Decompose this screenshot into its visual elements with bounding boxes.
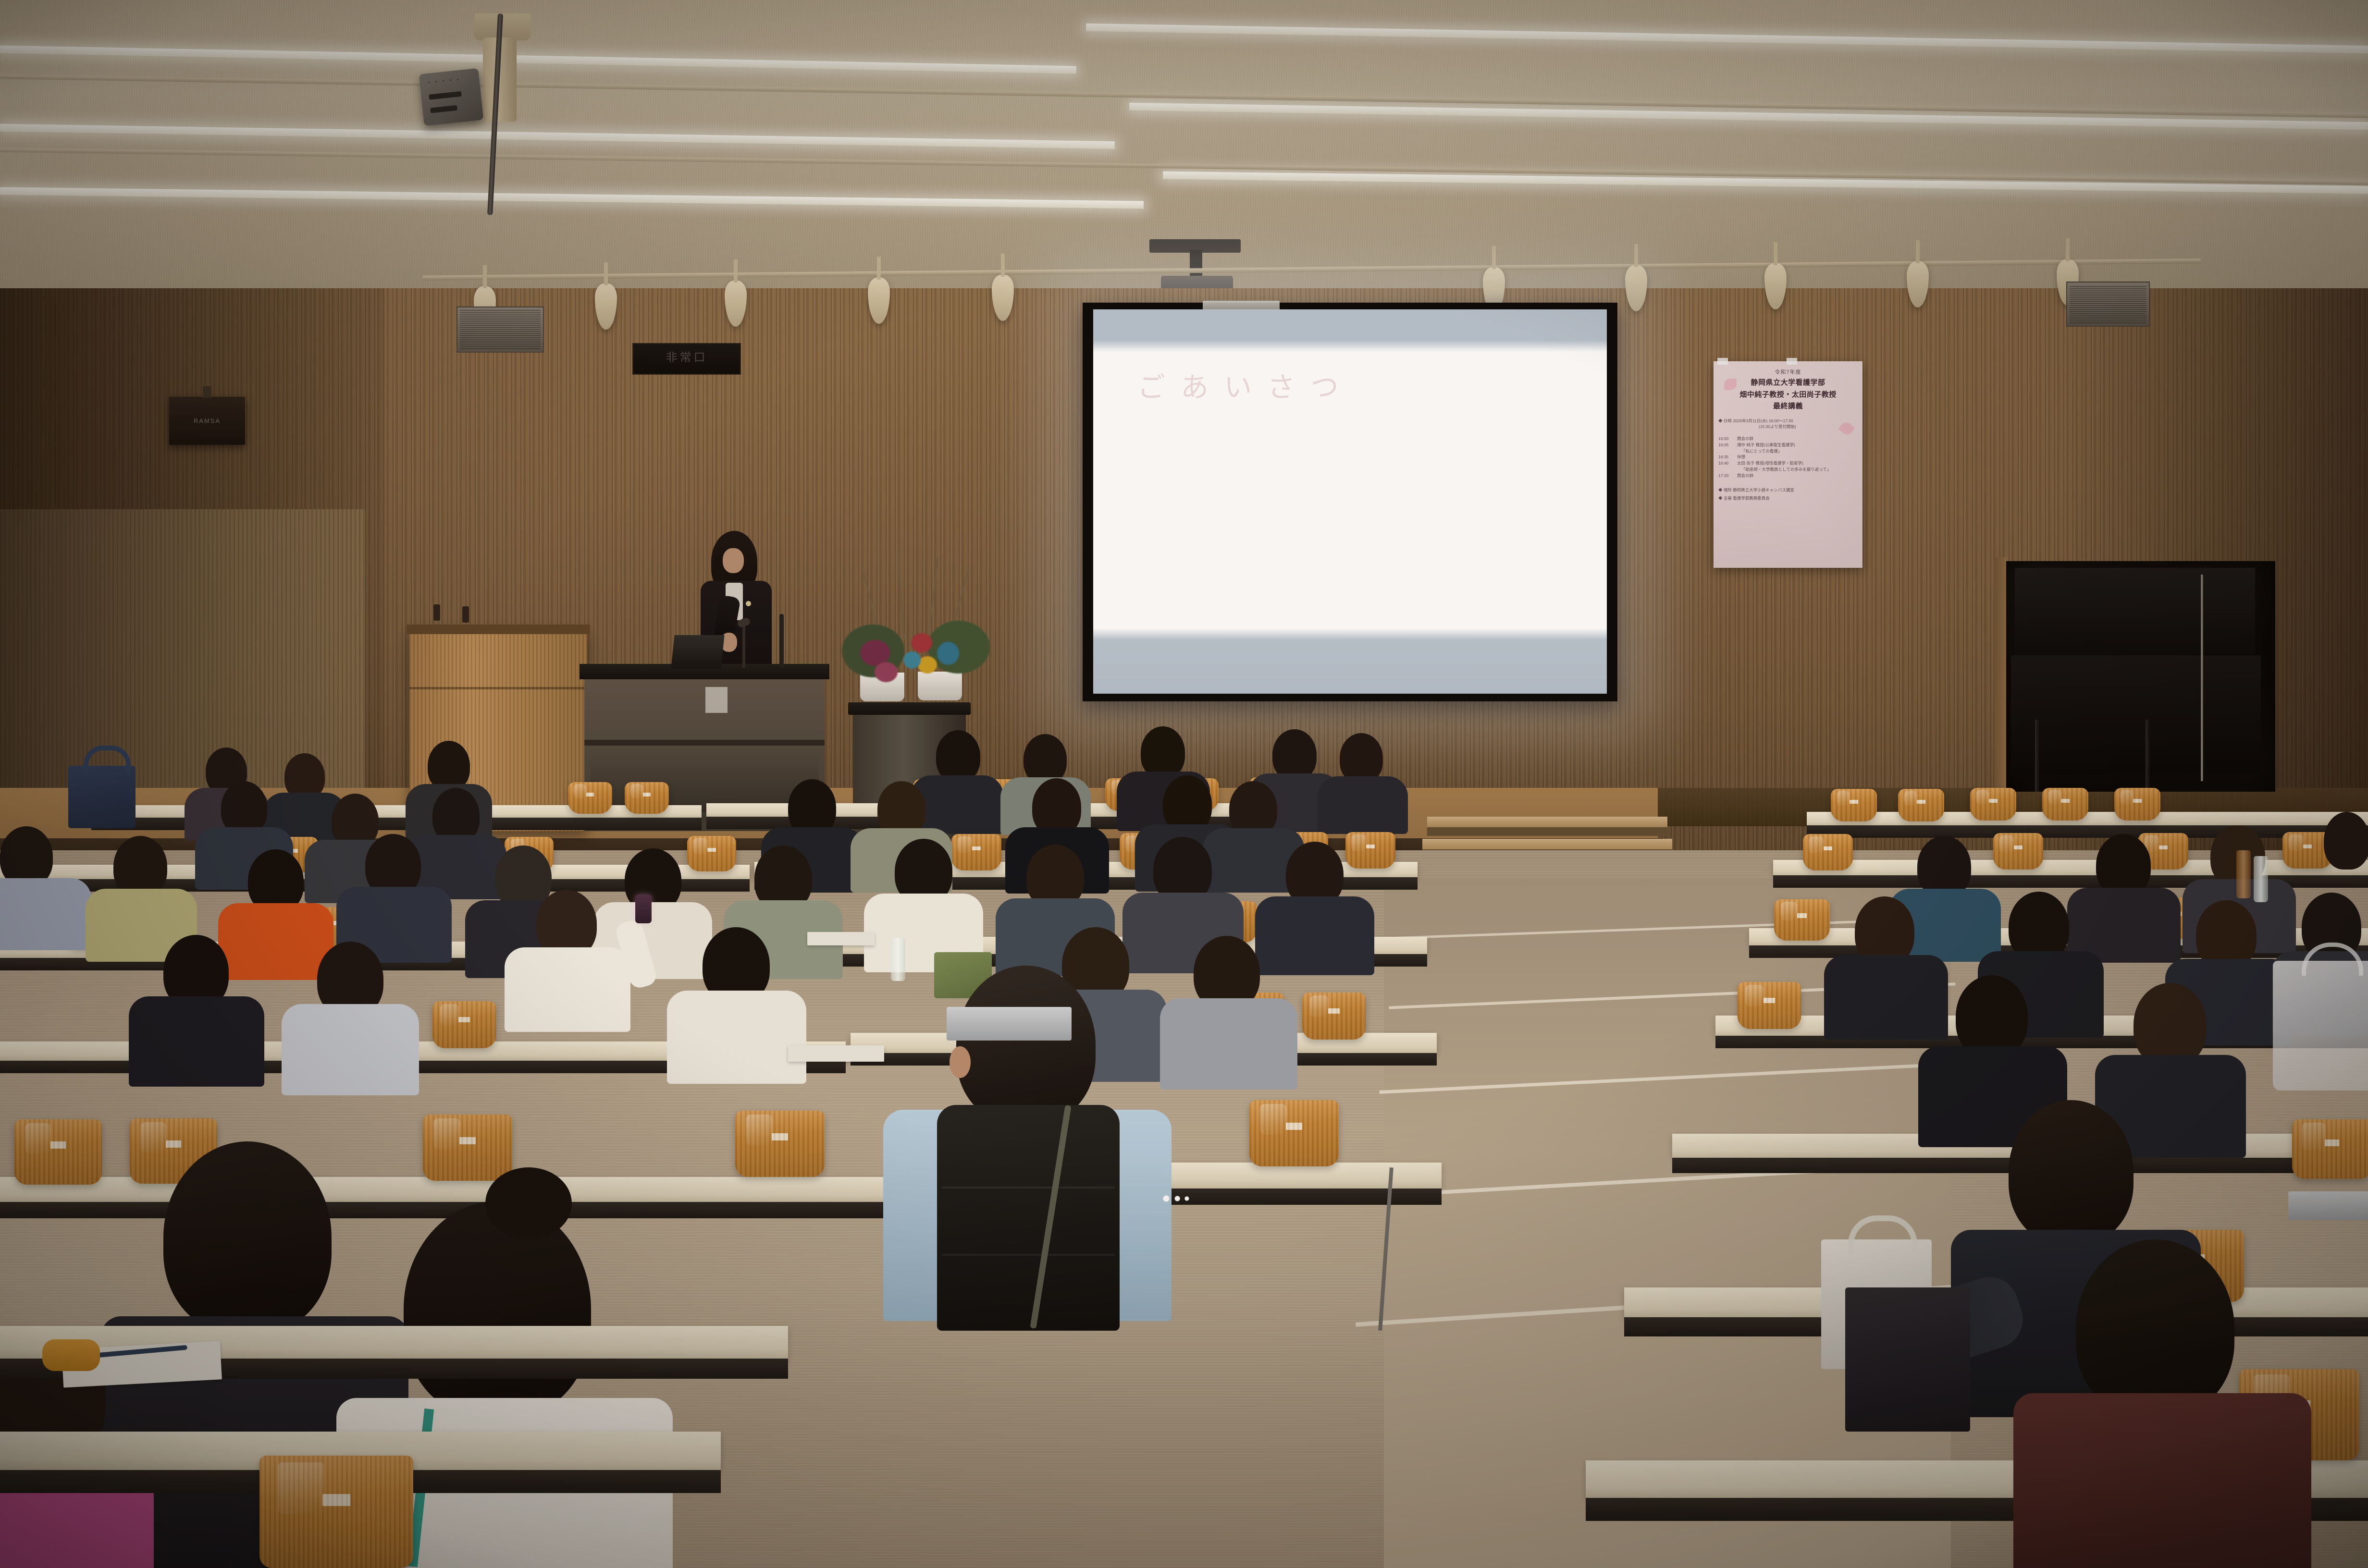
chair (2042, 788, 2088, 821)
attendee-shoulders (1160, 998, 1297, 1090)
desk-microphone (779, 614, 784, 668)
chair (1738, 982, 1801, 1029)
attendee-head-foreground (404, 1201, 591, 1417)
poster-program-item: 畑中 純子 教授(公衆衛生看護学) (1737, 442, 1795, 448)
notebook (807, 932, 875, 945)
poster-program: 16:00開会の辞16:05畑中 純子 教授(公衆衛生看護学)「私にとっての看護… (1718, 436, 1858, 478)
attendee-head (1272, 729, 1317, 780)
lectern-top (407, 625, 590, 634)
wall-speaker (2066, 282, 2150, 327)
desk-microphone (742, 625, 745, 668)
notebook (788, 1045, 884, 1062)
flower-blossom-blue (937, 642, 959, 665)
poster-program-row: 16:40太田 尚子 教授(母性看護学・助産学) (1718, 460, 1858, 466)
slide-title: ご あ い さ つ (1137, 361, 1503, 414)
chair (2292, 1119, 2368, 1179)
laptop-on-stage-desk (671, 635, 724, 669)
laptop (947, 1007, 1072, 1041)
attendee-head-foreground (163, 1141, 332, 1334)
attendee-head (428, 741, 470, 791)
poster-program-row: 「助産師・大学教員としての歩みを振り返って」 (1718, 466, 1858, 473)
flower-blossom-pink (875, 662, 898, 682)
microphone-stand (2201, 575, 2203, 781)
poster-program-row: 16:00開会の辞 (1718, 436, 1858, 442)
attendee-head (1917, 836, 1971, 897)
attendee-head (936, 730, 980, 782)
poster-tape (1787, 358, 1797, 365)
vest-seam (942, 1187, 1115, 1188)
chair (1831, 789, 1877, 821)
speaker-brand-label: RAMSA (169, 417, 245, 425)
chair-foreground (735, 1111, 825, 1177)
poster-title-line1: 静岡県立大学看護学部 (1718, 378, 1858, 388)
poster-program-item: 閉会の辞 (1737, 473, 1753, 479)
attendee-shoulders (0, 878, 91, 950)
stage-step (1422, 839, 1672, 849)
poster-program-row: 16:35休憩 (1718, 454, 1858, 460)
poster-program-item: 休憩 (1737, 454, 1745, 460)
poster-datetime: ◆ 日時 2026年3月11日(水) 16:00〜17:30 (15:30より受… (1718, 418, 1858, 430)
chair (432, 1001, 496, 1048)
lectern-knob (433, 604, 440, 621)
hair-bun (485, 1167, 572, 1239)
event-poster: 令和7年度 静岡県立大学看護学部 畑中純子教授・太田尚子教授 最終講義 ◆ 日時… (1714, 361, 1862, 568)
attendee-shoulders (505, 947, 630, 1032)
attendee-head (2134, 983, 2207, 1066)
attendee-head (1956, 975, 2028, 1058)
presenter-face (723, 548, 744, 573)
vest-logo (1163, 1194, 1191, 1203)
desk-row-right (1773, 860, 2368, 875)
attendee-shoulders (1318, 776, 1408, 834)
wall-sign: 非常口 (632, 343, 741, 375)
vest-seam (942, 1254, 1115, 1256)
wall-shadow-left (0, 288, 384, 855)
poster-tape (1717, 358, 1728, 365)
piano-alcove (2006, 561, 2275, 792)
ceiling-camera-icon (411, 13, 555, 158)
chair (1803, 834, 1853, 870)
camera-body (419, 68, 484, 126)
attendee-head-foreground (2076, 1239, 2234, 1417)
attendee-head (1340, 733, 1383, 783)
piano-lid (2015, 568, 2255, 654)
poster-venue: ◆ 場所 静岡県立大学小鹿キャンパス講堂 (1718, 486, 1858, 494)
poster-program-row: 「私にとっての看護」 (1718, 448, 1858, 454)
attendee-shoulders (218, 903, 333, 980)
chair-foreground (1249, 1100, 1339, 1166)
piano-leg (2035, 720, 2039, 792)
presenter-corsage (746, 601, 751, 606)
chair (687, 836, 736, 871)
attendee-black-puffer-vest (937, 1105, 1120, 1331)
poster-program-row: 16:05畑中 純子 教授(公衆衛生看護学) (1718, 442, 1858, 448)
poster-program-item: 太田 尚子 教授(母性看護学・助産学) (1737, 460, 1803, 466)
attendee-shoulders (282, 1004, 419, 1095)
eyeglasses-case (42, 1339, 100, 1371)
ramsa-speaker: RAMSA (169, 397, 245, 445)
chair (1302, 992, 1366, 1040)
poster-host: ◆ 主催 看護学部教務委員会 (1718, 494, 1858, 502)
attendee-head (1024, 734, 1067, 784)
attendee-ear (950, 1046, 971, 1078)
poster-program-time: 16:40 (1718, 460, 1734, 466)
chair (568, 782, 612, 814)
plastic-shopping-bag (2273, 961, 2368, 1090)
grand-piano (2011, 655, 2261, 775)
attendee-head-foreground (2009, 1100, 2134, 1244)
sakura-decoration (1724, 379, 1737, 390)
attendee-head (2096, 834, 2151, 896)
attendee-shoulders (1255, 896, 1374, 975)
poster-program-time: 16:05 (1718, 442, 1734, 448)
laptop (2288, 1191, 2368, 1220)
bag-handle (84, 746, 131, 775)
projection-screen: ご あ い さ つ (1083, 303, 1617, 701)
papers-on-desk (705, 687, 728, 713)
chair (1345, 832, 1395, 869)
piano-leg (2146, 720, 2150, 792)
wall-sign-label: 非常口 (633, 344, 740, 372)
chair (1970, 788, 2016, 821)
poster-title-line2: 畑中純子教授・太田尚子教授 (1718, 390, 1858, 400)
water-bottle (2254, 856, 2268, 902)
tea-bottle (2236, 850, 2251, 898)
flower-pedestal-top (848, 702, 971, 715)
flower-blossom-yellow (918, 656, 937, 674)
lecture-hall-photo: RAMSA 非常口 ご あ い さ つ (0, 0, 2368, 1568)
attendee-head (1141, 726, 1185, 778)
poster-datetime-main: ◆ 日時 2026年3月11日(水) 16:00〜17:30 (1718, 418, 1858, 424)
flower-blossom-blue (903, 651, 921, 669)
attendee-head (113, 836, 167, 897)
water-bottle (891, 938, 905, 981)
attendee-shoulders (129, 996, 264, 1087)
poster-year: 令和7年度 (1718, 368, 1858, 376)
attendee-head-foreground (956, 966, 1096, 1124)
projector-arm (1190, 250, 1202, 279)
poster-footer: ◆ 場所 静岡県立大学小鹿キャンパス講堂 ◆ 主催 看護学部教務委員会 (1718, 486, 1858, 502)
dark-bag (1845, 1287, 1970, 1432)
poster-program-time: 16:35 (1718, 454, 1734, 460)
camera-vent (429, 91, 462, 100)
poster-datetime-note: (15:30より受付開始) (1718, 424, 1858, 429)
stage-desk-band (584, 740, 825, 746)
desk-row-right (1807, 812, 2368, 825)
chair (1774, 899, 1830, 941)
slide-content: ご あ い さ つ (1137, 361, 1503, 652)
attendee-maroon-top (2013, 1393, 2311, 1568)
chair-foreground (14, 1119, 102, 1185)
chair-foreground (423, 1115, 512, 1181)
attendee-head (2324, 812, 2368, 870)
lectern-seam (409, 687, 587, 689)
attendee-shoulders (1824, 955, 1948, 1040)
flower-blossom-red (911, 633, 932, 652)
flower-pot (918, 672, 962, 700)
chair (2114, 788, 2160, 821)
poster-program-item: 開会の辞 (1737, 436, 1753, 442)
poster-title-line3: 最終講義 (1718, 402, 1858, 411)
alcove-edge (1994, 557, 2008, 797)
smartphone (635, 894, 652, 923)
chair (1993, 833, 2043, 870)
lectern-knob (462, 606, 469, 623)
chair (1898, 789, 1944, 821)
screen-surface: ご あ い さ つ (1093, 309, 1607, 694)
attendee-shoulders (667, 991, 806, 1084)
poster-program-row: 17:20閉会の辞 (1718, 473, 1858, 479)
wall-speaker (456, 306, 544, 353)
poster-program-time: 17:20 (1718, 473, 1734, 479)
chair-foreground (259, 1456, 413, 1568)
stage-step (1427, 817, 1667, 827)
speaker-bracket (203, 386, 211, 398)
chair (625, 782, 669, 814)
camera-vent (430, 105, 457, 113)
chair (951, 834, 1001, 870)
poster-program-time: 16:00 (1718, 436, 1734, 442)
